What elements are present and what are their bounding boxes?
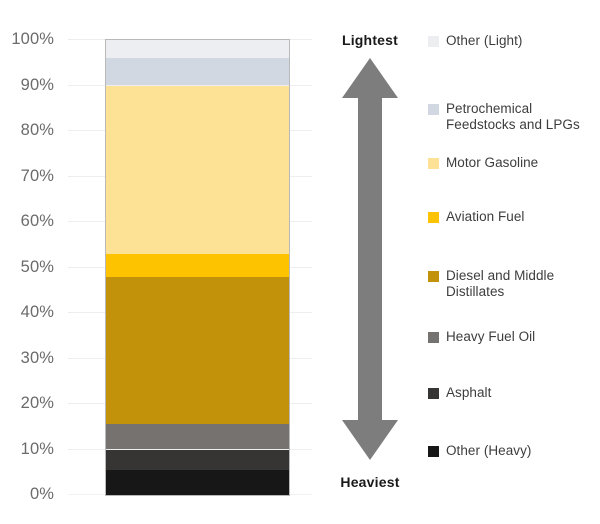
bar-segment[interactable]	[106, 424, 289, 449]
legend-item-label: Other (Light)	[446, 33, 522, 49]
legend-swatch	[428, 104, 439, 115]
bar-segment[interactable]	[106, 277, 289, 425]
bar-segment[interactable]	[106, 40, 289, 58]
plot-area	[68, 39, 312, 494]
legend-item-label: Other (Heavy)	[446, 443, 531, 459]
y-axis-tick-label: 0%	[0, 486, 54, 503]
legend-swatch	[428, 388, 439, 399]
y-axis-tick-label: 10%	[0, 441, 54, 458]
y-axis-tick-label: 50%	[0, 259, 54, 276]
legend-swatch	[428, 212, 439, 223]
y-axis-tick-label: 100%	[0, 31, 54, 48]
legend-item[interactable]: Other (Heavy)	[428, 443, 600, 459]
stacked-bar-chart: 100%90%80%70%60%50%40%30%20%10%0% Lighte…	[0, 0, 600, 524]
bar-segment[interactable]	[106, 58, 289, 85]
arrow-label-heaviest: Heaviest	[322, 474, 418, 490]
bar-segment[interactable]	[106, 254, 289, 277]
stacked-bar-column[interactable]	[105, 39, 290, 496]
legend-item[interactable]: Petrochemical Feedstocks and LPGs	[428, 101, 600, 133]
weight-scale-annotation: Lightest Heaviest	[322, 30, 418, 490]
bar-segment[interactable]	[106, 86, 289, 254]
y-axis-tick-label: 70%	[0, 168, 54, 185]
y-axis-tick-label: 30%	[0, 350, 54, 367]
double-headed-vertical-arrow-icon	[322, 54, 418, 464]
legend-item[interactable]: Aviation Fuel	[428, 209, 600, 225]
legend-item-label: Petrochemical Feedstocks and LPGs	[446, 101, 600, 133]
legend-swatch	[428, 332, 439, 343]
legend-item[interactable]: Asphalt	[428, 385, 600, 401]
legend-item[interactable]: Heavy Fuel Oil	[428, 329, 600, 345]
legend-swatch	[428, 158, 439, 169]
legend-swatch	[428, 36, 439, 47]
y-axis-tick-label: 80%	[0, 122, 54, 139]
y-axis-tick-label: 40%	[0, 304, 54, 321]
legend-swatch	[428, 271, 439, 282]
legend-item[interactable]: Diesel and Middle Distillates	[428, 268, 600, 300]
bar-segment[interactable]	[106, 450, 289, 470]
y-axis-tick-label: 90%	[0, 77, 54, 94]
y-axis-tick-label: 20%	[0, 395, 54, 412]
legend-item-label: Diesel and Middle Distillates	[446, 268, 600, 300]
legend-item-label: Heavy Fuel Oil	[446, 329, 535, 345]
legend-item-label: Asphalt	[446, 385, 491, 401]
legend-item-label: Aviation Fuel	[446, 209, 524, 225]
arrow-label-lightest: Lightest	[322, 32, 418, 48]
y-axis-tick-label: 60%	[0, 213, 54, 230]
legend-item[interactable]: Motor Gasoline	[428, 155, 600, 171]
legend-item-label: Motor Gasoline	[446, 155, 538, 171]
bar-segment[interactable]	[106, 470, 289, 495]
legend-swatch	[428, 446, 439, 457]
legend-item[interactable]: Other (Light)	[428, 33, 600, 49]
